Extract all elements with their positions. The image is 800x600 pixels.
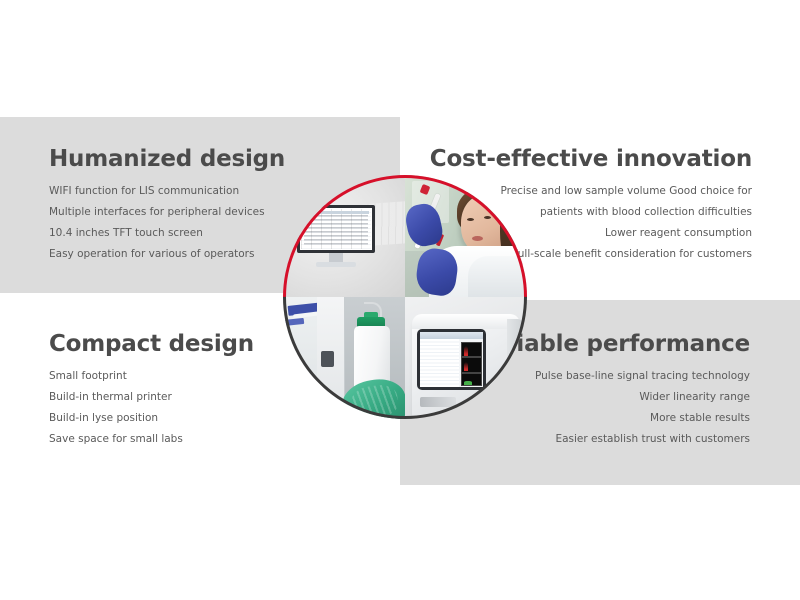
analyzer-result-table: [420, 339, 459, 386]
monitor-base: [316, 262, 356, 267]
list-item: WIFI function for LIS communication: [49, 181, 285, 202]
scattergram-1: [461, 342, 481, 357]
list-item: Multiple interfaces for peripheral devic…: [49, 202, 285, 223]
scattergram-2-curve: [464, 362, 469, 372]
feature-list-top-left: WIFI function for LIS communication Mult…: [49, 181, 285, 265]
collage-grid: [283, 175, 527, 419]
list-item: 10.4 inches TFT touch screen: [49, 223, 285, 244]
results-table: [301, 209, 371, 249]
technician-lab-coat-shoulder: [468, 256, 527, 297]
analyzer-top-cover: [412, 314, 519, 329]
scattergram-3: [461, 373, 481, 386]
list-item: Easier establish trust with customers: [476, 429, 750, 450]
monitor-screen: [297, 205, 375, 253]
quadrant-title-bottom-left: Compact design: [49, 332, 254, 357]
results-rows: [304, 215, 368, 247]
list-item: Easy operation for various of operators: [49, 244, 285, 265]
list-item: Save space for small labs: [49, 429, 254, 450]
analyzer-device-photo: [405, 297, 527, 419]
list-item: Build-in thermal printer: [49, 387, 254, 408]
analyzer-brand-logo: [420, 397, 457, 407]
quadrant-title-top-right: Cost-effective innovation: [430, 147, 752, 172]
list-item: Build-in lyse position: [49, 408, 254, 429]
monitor-results-photo: [283, 175, 405, 297]
scattergram-2: [461, 357, 481, 372]
lab-technician-photo: [405, 175, 527, 297]
door-latch: [321, 351, 334, 367]
analyzer-front-drawer: [473, 399, 507, 419]
reagent-bottle-photo: [283, 297, 405, 419]
analyzer-right-side: [507, 319, 524, 404]
quadrant-humanized-design: Humanized design WIFI function for LIS c…: [49, 147, 285, 265]
analyzer-histogram-area: [459, 339, 483, 386]
monitor-neck: [329, 253, 343, 262]
analyzer-touch-screen: [420, 332, 482, 387]
product-feature-slide: Humanized design WIFI function for LIS c…: [0, 0, 800, 600]
center-photo-collage: [283, 175, 527, 419]
quadrant-title-top-left: Humanized design: [49, 147, 285, 172]
quadrant-compact-design: Compact design Small footprint Build-in …: [49, 332, 254, 450]
list-item: Small footprint: [49, 366, 254, 387]
scattergram-3-curve: [464, 381, 471, 384]
desktop-monitor: [297, 205, 375, 267]
feature-list-bottom-left: Small footprint Build-in thermal printer…: [49, 366, 254, 450]
scattergram-1-curve: [464, 346, 469, 356]
technician-eye-left: [467, 218, 474, 221]
analyzer-screen-bezel: [417, 329, 485, 390]
